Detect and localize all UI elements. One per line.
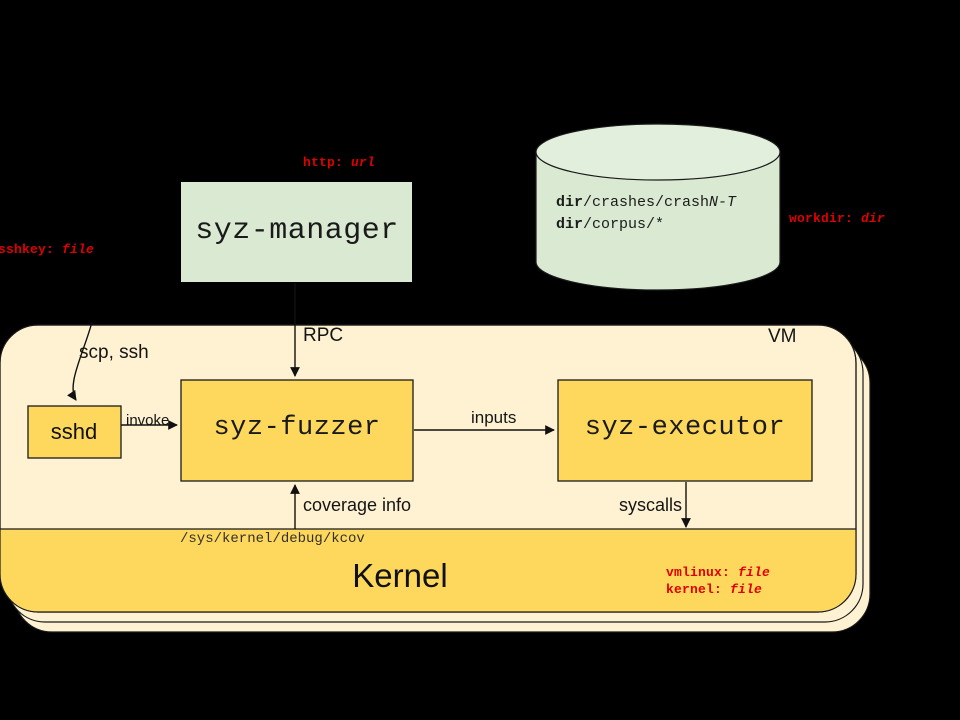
workdir-line2-prefix: dir bbox=[556, 216, 583, 233]
workdir-line1-prefix: dir bbox=[556, 194, 583, 211]
kernel-label: Kernel bbox=[300, 557, 500, 595]
annotation-vmlinux: vmlinux: file bbox=[666, 566, 770, 581]
workdir-line2-rest: /corpus/* bbox=[583, 216, 664, 233]
annotation-http-key: http: bbox=[303, 155, 343, 170]
annotation-workdir-value: dir bbox=[861, 211, 885, 226]
syz-fuzzer-label: syz-fuzzer bbox=[184, 413, 410, 444]
edge-label-invoke: invoke bbox=[126, 412, 169, 429]
kcov-path-label: /sys/kernel/debug/kcov bbox=[180, 531, 365, 547]
annotation-workdir: workdir: dir bbox=[789, 212, 885, 227]
syz-executor-label: syz-executor bbox=[561, 413, 809, 444]
edge-label-syscalls: syscalls bbox=[619, 495, 682, 516]
annotation-http-value: url bbox=[351, 155, 375, 170]
workdir-line1-rest: /crashes/crash bbox=[583, 194, 709, 211]
annotation-vmlinux-key: vmlinux: bbox=[666, 565, 730, 580]
edge-label-scp-ssh: scp, ssh bbox=[79, 342, 149, 364]
annotation-vmlinux-value: file bbox=[738, 565, 770, 580]
annotation-kernel: kernel: file bbox=[666, 583, 762, 598]
annotation-kernel-key: kernel: bbox=[666, 582, 722, 597]
vm-label: VM bbox=[768, 326, 797, 348]
cylinder-top bbox=[536, 124, 780, 180]
sshd-label: sshd bbox=[30, 419, 118, 444]
annotation-sshkey-value: file bbox=[62, 242, 94, 257]
annotation-sshkey: sshkey: file bbox=[0, 243, 94, 258]
syz-manager-label: syz-manager bbox=[186, 214, 408, 249]
edge-label-inputs: inputs bbox=[471, 408, 516, 428]
diagram-canvas: syz-manager syz-fuzzer syz-executor sshd… bbox=[0, 0, 960, 720]
workdir-line1-italic: N-T bbox=[709, 194, 736, 211]
edge-label-rpc: RPC bbox=[303, 325, 343, 347]
annotation-http: http: url bbox=[303, 156, 375, 171]
annotation-workdir-key: workdir: bbox=[789, 211, 853, 226]
annotation-kernel-value: file bbox=[730, 582, 762, 597]
workdir-contents: dir/crashes/crashN-Tdir/corpus/* bbox=[556, 192, 736, 236]
edge-label-coverage-info: coverage info bbox=[303, 495, 411, 516]
annotation-sshkey-key: sshkey: bbox=[0, 242, 54, 257]
